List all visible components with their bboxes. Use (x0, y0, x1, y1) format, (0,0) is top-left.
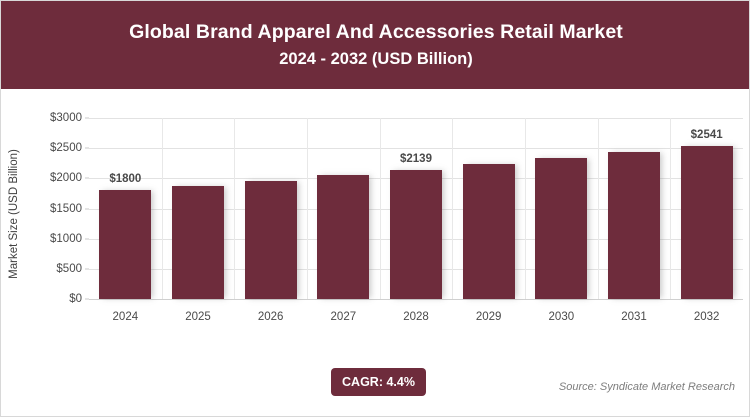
bar[interactable] (535, 158, 587, 299)
y-axis-title: Market Size (USD Billion) (1, 89, 27, 339)
bars-group: $18002024202520262027$213920282029203020… (89, 118, 743, 299)
bar-slot: $18002024 (89, 118, 162, 299)
source-note: Source: Syndicate Market Research (559, 381, 735, 393)
y-axis-title-text: Market Size (USD Billion) (8, 149, 20, 279)
bar-value-label: $1800 (109, 173, 141, 185)
bar-slot: $21392028 (380, 118, 453, 299)
plot-area: $0$500$1000$1500$2000$2500$3000 $1800202… (89, 118, 743, 299)
gridline (89, 299, 743, 300)
bar-slot: 2026 (234, 118, 307, 299)
y-axis-tick-label: $2500 (50, 142, 82, 154)
bar[interactable] (317, 175, 369, 299)
x-axis-label: 2024 (113, 311, 139, 323)
cagr-badge: CAGR: 4.4% (331, 368, 426, 396)
bar-value-label: $2139 (400, 153, 432, 165)
y-axis-tick-label: $1500 (50, 203, 82, 215)
y-axis-tick-label: $500 (56, 263, 82, 275)
header-banner: Global Brand Apparel And Accessories Ret… (1, 1, 750, 89)
bar[interactable] (390, 170, 442, 299)
bar[interactable] (463, 164, 515, 299)
x-axis-label: 2029 (476, 311, 502, 323)
x-axis-label: 2026 (258, 311, 284, 323)
x-axis-label: 2030 (549, 311, 575, 323)
y-axis-tick-label: $1000 (50, 233, 82, 245)
bar-value-label: $2541 (691, 129, 723, 141)
bar[interactable] (681, 146, 733, 299)
x-axis-label: 2025 (185, 311, 211, 323)
bar-slot: 2029 (452, 118, 525, 299)
y-axis-tick-label: $0 (69, 293, 82, 305)
bar-chart: Market Size (USD Billion) $0$500$1000$15… (1, 89, 750, 339)
bar[interactable] (99, 190, 151, 299)
infographic-card: Global Brand Apparel And Accessories Ret… (0, 0, 750, 417)
page-subtitle: 2024 - 2032 (USD Billion) (279, 50, 472, 68)
x-axis-label: 2027 (331, 311, 357, 323)
y-axis-tick-label: $3000 (50, 112, 82, 124)
y-axis-tick-label: $2000 (50, 172, 82, 184)
x-axis-label: 2028 (403, 311, 429, 323)
bar-slot: 2027 (307, 118, 380, 299)
bar-slot: 2025 (162, 118, 235, 299)
bar-slot: 2031 (598, 118, 671, 299)
page-title: Global Brand Apparel And Accessories Ret… (129, 22, 623, 43)
bar-slot: $25412032 (670, 118, 743, 299)
bar[interactable] (608, 152, 660, 299)
bar-slot: 2030 (525, 118, 598, 299)
x-axis-label: 2031 (621, 311, 647, 323)
x-axis-label: 2032 (694, 311, 720, 323)
bar[interactable] (245, 181, 297, 299)
bar[interactable] (172, 186, 224, 299)
